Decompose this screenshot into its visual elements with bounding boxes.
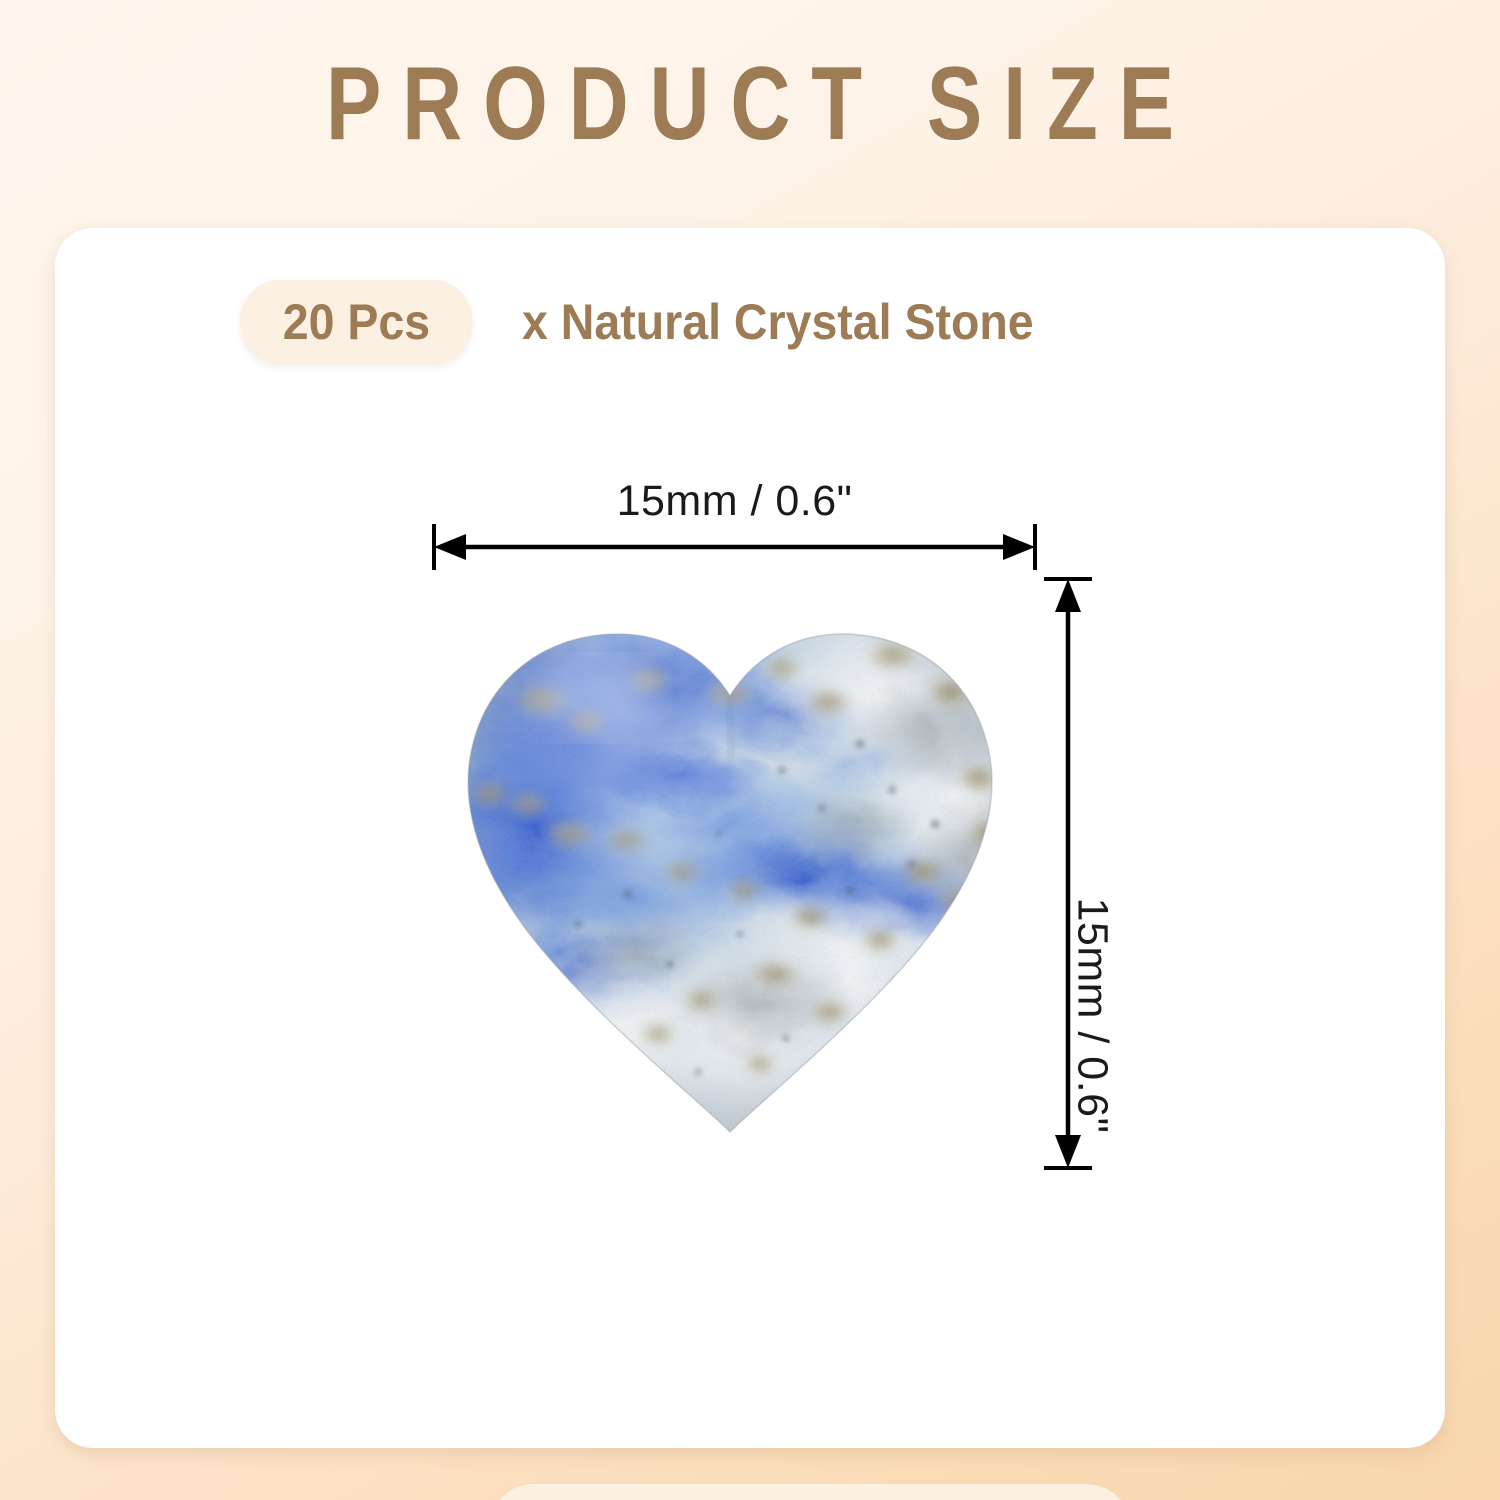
item-name-label: x Natural Crystal Stone bbox=[522, 295, 1034, 349]
heart-stone-body bbox=[430, 572, 1030, 1152]
infographic-root: PRODUCT SIZE 20 Pcs x Natural Crystal St… bbox=[0, 0, 1500, 1500]
heart-stone-svg bbox=[430, 572, 1030, 1152]
quantity-badge: 20 Pcs bbox=[240, 280, 473, 364]
thickness-badge: Thickness: 8mm / 0.3" bbox=[488, 1484, 1132, 1500]
height-dimension-label: 15mm / 0.6" bbox=[1068, 898, 1117, 1134]
product-image-heart-stone bbox=[430, 572, 1030, 1152]
width-dimension-label: 15mm / 0.6" bbox=[433, 477, 1036, 526]
page-title: PRODUCT SIZE bbox=[150, 52, 1350, 156]
header-row: 20 Pcs x Natural Crystal Stone bbox=[240, 280, 1073, 364]
